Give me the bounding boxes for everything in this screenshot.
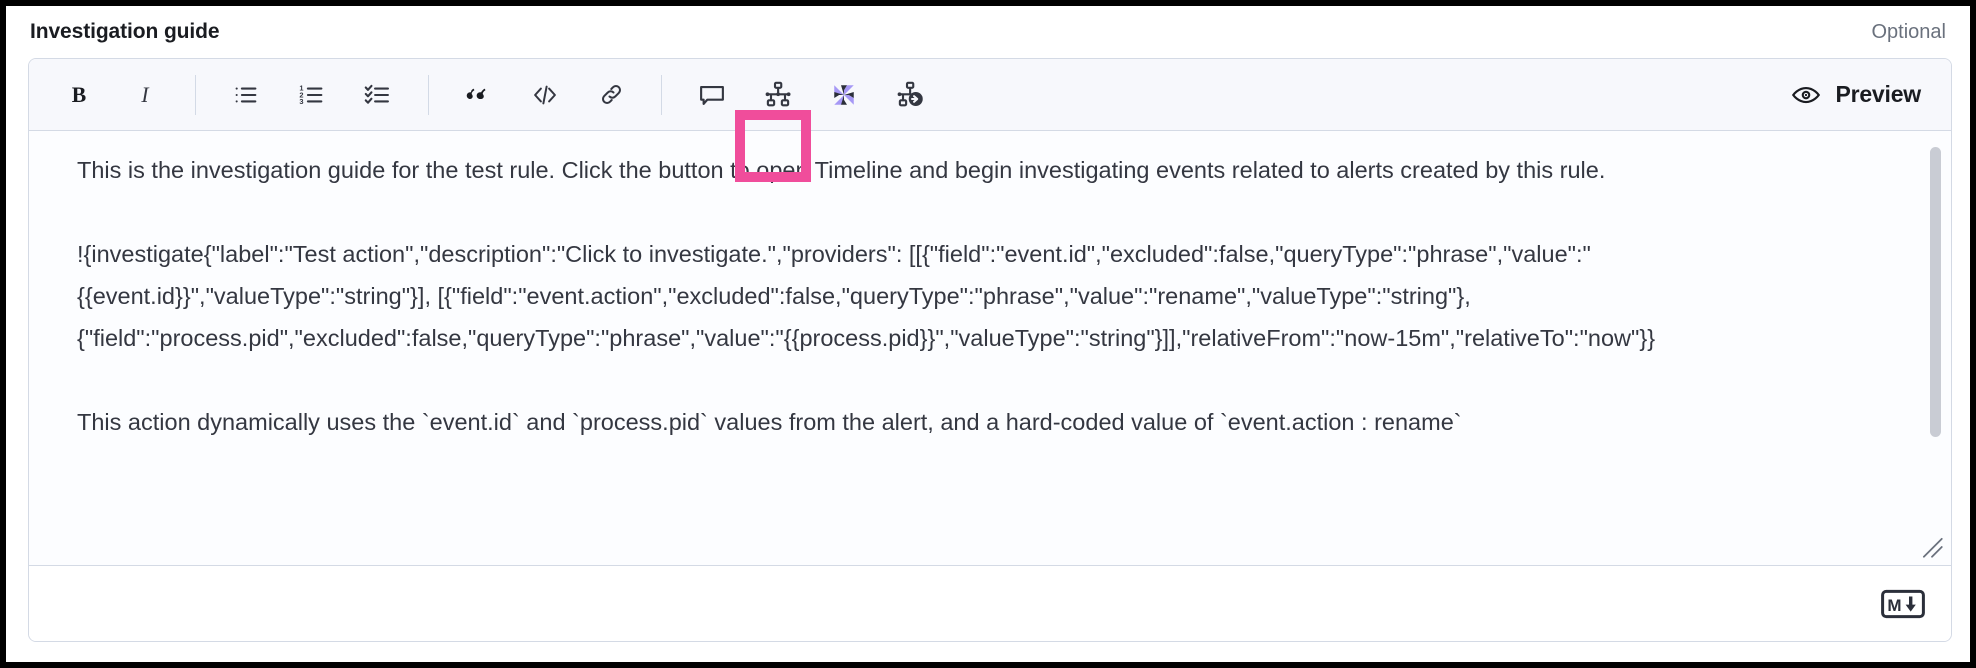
timeline-icon bbox=[763, 80, 793, 110]
bold-icon: B bbox=[66, 82, 92, 108]
optional-badge: Optional bbox=[1872, 21, 1947, 44]
editor-scrollbar-track[interactable] bbox=[1935, 137, 1946, 559]
markdown-supported-button[interactable]: M bbox=[1881, 589, 1925, 619]
preview-label: Preview bbox=[1835, 81, 1921, 108]
numbered-list-icon: 1 2 3 bbox=[298, 81, 326, 109]
numbered-list-button[interactable]: 1 2 3 bbox=[288, 71, 336, 119]
investigation-guide-panel: Investigation guide Optional B I bbox=[0, 0, 1976, 668]
osquery-button[interactable] bbox=[820, 71, 868, 119]
svg-text:B: B bbox=[72, 83, 86, 107]
bullet-list-button[interactable] bbox=[222, 71, 270, 119]
link-button[interactable] bbox=[587, 71, 635, 119]
editor-body: This is the investigation guide for the … bbox=[29, 131, 1951, 565]
page-title: Investigation guide bbox=[30, 20, 219, 44]
editor-scrollbar-thumb[interactable] bbox=[1930, 147, 1941, 437]
quote-button[interactable] bbox=[455, 71, 503, 119]
osquery-icon bbox=[829, 80, 859, 110]
quote-icon bbox=[465, 81, 493, 109]
markdown-supported-icon: M bbox=[1881, 589, 1925, 619]
italic-icon: I bbox=[132, 82, 158, 108]
field-header: Investigation guide Optional bbox=[6, 6, 1970, 58]
preview-toggle-button[interactable]: Preview bbox=[1783, 76, 1929, 114]
code-icon bbox=[531, 81, 559, 109]
editor-footer: M bbox=[29, 565, 1951, 641]
comment-icon bbox=[697, 80, 727, 110]
editor-toolbar: B I bbox=[29, 59, 1951, 131]
timeline-button[interactable] bbox=[754, 71, 802, 119]
bold-button[interactable]: B bbox=[55, 71, 103, 119]
insert-investigation-action-icon bbox=[895, 80, 925, 110]
italic-button[interactable]: I bbox=[121, 71, 169, 119]
toolbar-divider-1 bbox=[195, 75, 196, 115]
svg-text:I: I bbox=[140, 83, 150, 107]
comment-button[interactable] bbox=[688, 71, 736, 119]
markdown-textarea[interactable]: This is the investigation guide for the … bbox=[29, 131, 1951, 565]
insert-investigation-action-button[interactable] bbox=[886, 71, 934, 119]
toolbar-divider-3 bbox=[661, 75, 662, 115]
task-list-button[interactable] bbox=[354, 71, 402, 119]
svg-text:M: M bbox=[1887, 596, 1901, 615]
link-icon bbox=[598, 81, 625, 108]
toolbar-divider-2 bbox=[428, 75, 429, 115]
markdown-editor: B I bbox=[28, 58, 1952, 642]
bullet-list-icon bbox=[232, 81, 260, 109]
code-button[interactable] bbox=[521, 71, 569, 119]
svg-text:3: 3 bbox=[299, 96, 303, 105]
task-list-icon bbox=[364, 81, 392, 109]
resize-handle-icon[interactable] bbox=[1919, 534, 1945, 560]
eye-icon bbox=[1791, 80, 1821, 110]
